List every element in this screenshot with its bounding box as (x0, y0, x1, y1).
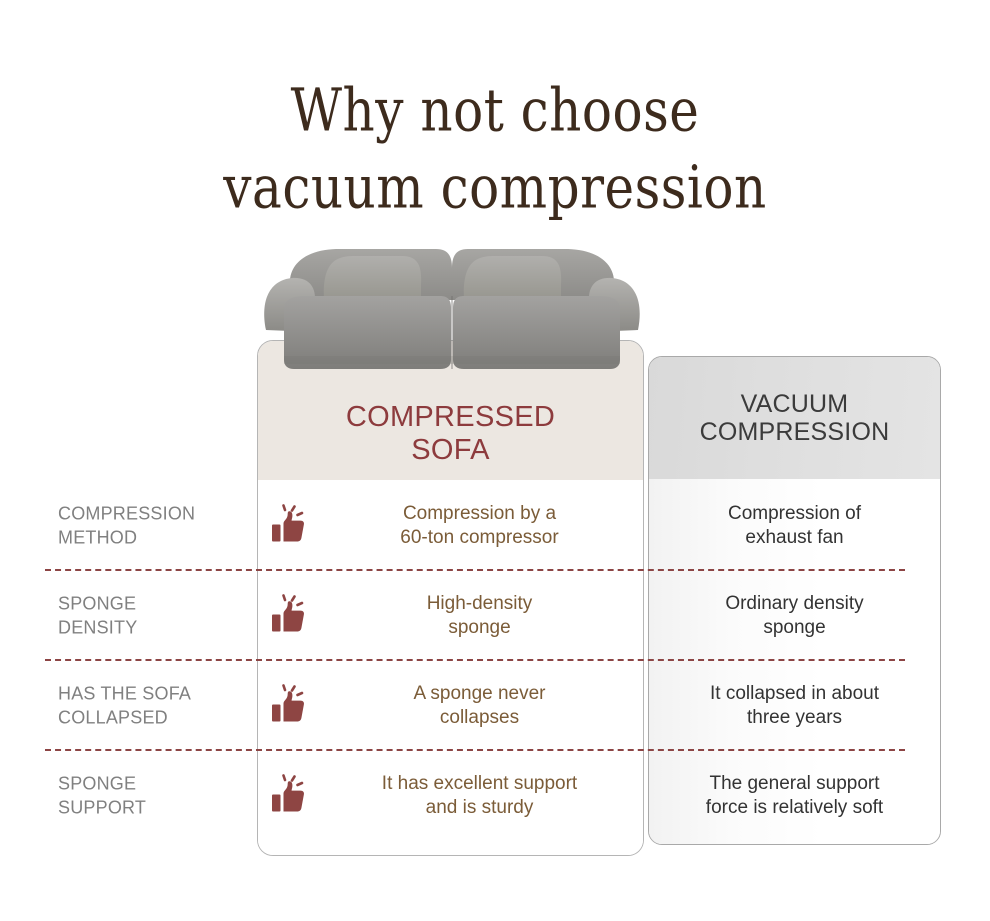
row-label-line-1: SPONGE (58, 593, 136, 613)
cell-right-text: It collapsed in about three years (710, 682, 879, 731)
cell-left-line-1: High-density (427, 593, 533, 614)
row-label-compression-method: COMPRESSION METHOD (58, 502, 253, 550)
thumbs-up-icon (269, 504, 311, 549)
cell-right-line-2: three years (747, 707, 842, 728)
cell-left-text: High-density sponge (317, 592, 642, 641)
comparison-rows: COMPRESSION METHOD Com (0, 481, 990, 851)
cell-left-compression-method: Compression by a 60-ton compressor (259, 481, 642, 571)
column-header-vacuum-compression: VACUUM COMPRESSION (649, 357, 940, 479)
cell-left-line-1: Compression by a (403, 503, 556, 524)
table-row: HAS THE SOFA COLLAPSED (0, 661, 990, 751)
thumbs-up-icon (269, 594, 311, 639)
row-label-line-2: DENSITY (58, 617, 137, 637)
column-title-left-line-1: COMPRESSED (346, 401, 555, 433)
row-label-sponge-density: SPONGE DENSITY (58, 592, 253, 640)
row-label-sponge-support: SPONGE SUPPORT (58, 772, 253, 820)
row-label-line-2: COLLAPSED (58, 707, 168, 727)
cell-right-sponge-density: Ordinary density sponge (650, 571, 939, 661)
cell-left-has-the-sofa-collapsed: A sponge never collapses (259, 661, 642, 751)
cell-left-sponge-density: High-density sponge (259, 571, 642, 661)
table-row: COMPRESSION METHOD Com (0, 481, 990, 571)
cell-left-text: Compression by a 60-ton compressor (317, 502, 642, 551)
cell-right-compression-method: Compression of exhaust fan (650, 481, 939, 571)
row-label-line-1: COMPRESSION (58, 503, 195, 523)
table-row: SPONGE SUPPORT It has (0, 751, 990, 841)
cell-right-sponge-support: The general support force is relatively … (650, 751, 939, 841)
cell-left-line-1: A sponge never (413, 683, 545, 704)
row-label-line-2: METHOD (58, 527, 137, 547)
table-row: SPONGE DENSITY High-de (0, 571, 990, 661)
cell-left-text: It has excellent support and is sturdy (317, 772, 642, 821)
row-label-has-the-sofa-collapsed: HAS THE SOFA COLLAPSED (58, 682, 253, 730)
cell-left-line-2: and is sturdy (426, 797, 534, 818)
row-label-line-1: HAS THE SOFA (58, 683, 191, 703)
cell-right-text: Ordinary density sponge (725, 592, 863, 641)
cell-left-line-1: It has excellent support (382, 773, 577, 794)
cell-right-line-1: Compression of (728, 503, 861, 524)
column-title-right-line-2: COMPRESSION (700, 418, 890, 446)
cell-left-sponge-support: It has excellent support and is sturdy (259, 751, 642, 841)
sofa-product-image (258, 238, 644, 373)
cell-left-line-2: 60-ton compressor (400, 527, 558, 548)
cell-right-line-2: exhaust fan (745, 527, 843, 548)
cell-right-text: Compression of exhaust fan (728, 502, 861, 551)
thumbs-up-icon (269, 774, 311, 819)
cell-left-text: A sponge never collapses (317, 682, 642, 731)
cell-right-line-2: sponge (763, 617, 825, 638)
cell-right-has-the-sofa-collapsed: It collapsed in about three years (650, 661, 939, 751)
cell-left-line-2: sponge (448, 617, 510, 638)
comparison-table: VACUUM COMPRESSION COMPRESSED SOFA (0, 0, 990, 921)
cell-left-line-2: collapses (440, 707, 519, 728)
cell-right-text: The general support force is relatively … (706, 772, 883, 821)
cell-right-line-1: The general support (709, 773, 879, 794)
row-label-line-2: SUPPORT (58, 797, 146, 817)
thumbs-up-icon (269, 684, 311, 729)
cell-right-line-2: force is relatively soft (706, 797, 883, 818)
column-title-right-line-1: VACUUM (741, 390, 849, 418)
row-label-line-1: SPONGE (58, 773, 136, 793)
cell-right-line-1: Ordinary density (725, 593, 863, 614)
cell-right-line-1: It collapsed in about (710, 683, 879, 704)
column-title-left-line-2: SOFA (411, 434, 490, 466)
